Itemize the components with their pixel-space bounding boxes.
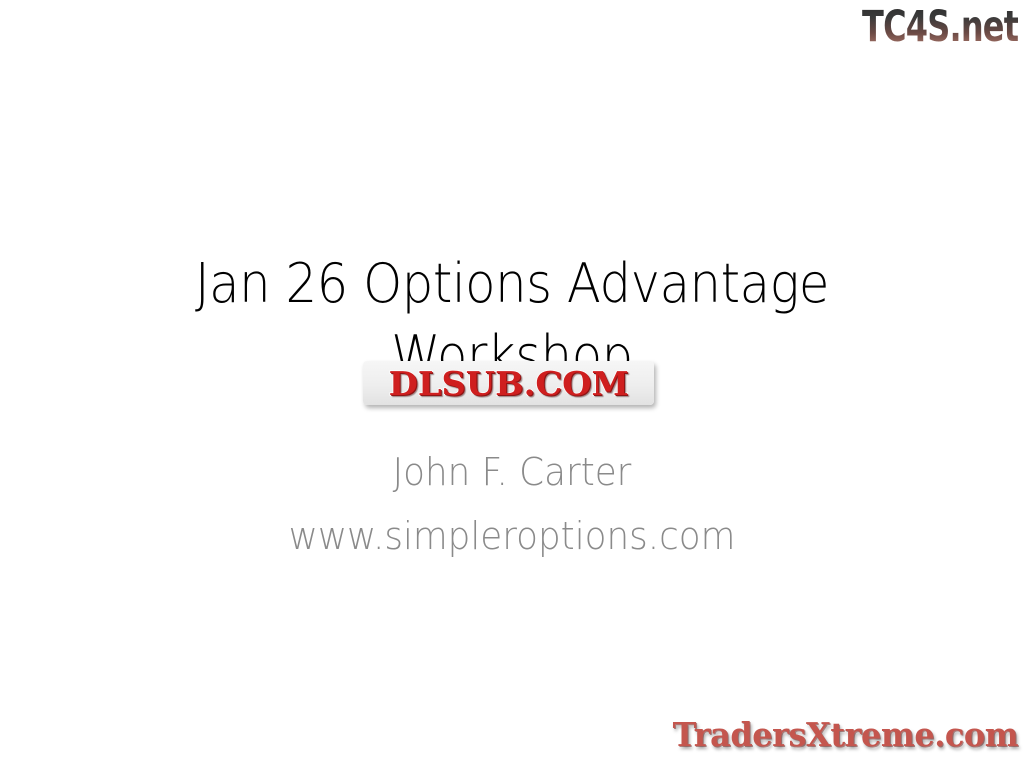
slide-subtitle-website: www.simpleroptions.com (31, 504, 994, 568)
watermark-dlsub-label: DLSUB.COM (388, 367, 628, 400)
slide-title-line-1: Jan 26 Options Advantage (41, 248, 983, 320)
watermark-tc4s-logo: TC4S.net (862, 4, 1018, 51)
presentation-slide: Jan 26 Options Advantage Workshop John F… (0, 0, 1024, 768)
slide-subtitle-author: John F. Carter (31, 440, 994, 504)
watermark-dlsub-panel: DLSUB.COM (363, 361, 654, 405)
watermark-tradersxtreme-logo: TradersXtreme.com (673, 716, 1018, 754)
slide-subtitle: John F. Carter www.simpleroptions.com (31, 440, 994, 568)
